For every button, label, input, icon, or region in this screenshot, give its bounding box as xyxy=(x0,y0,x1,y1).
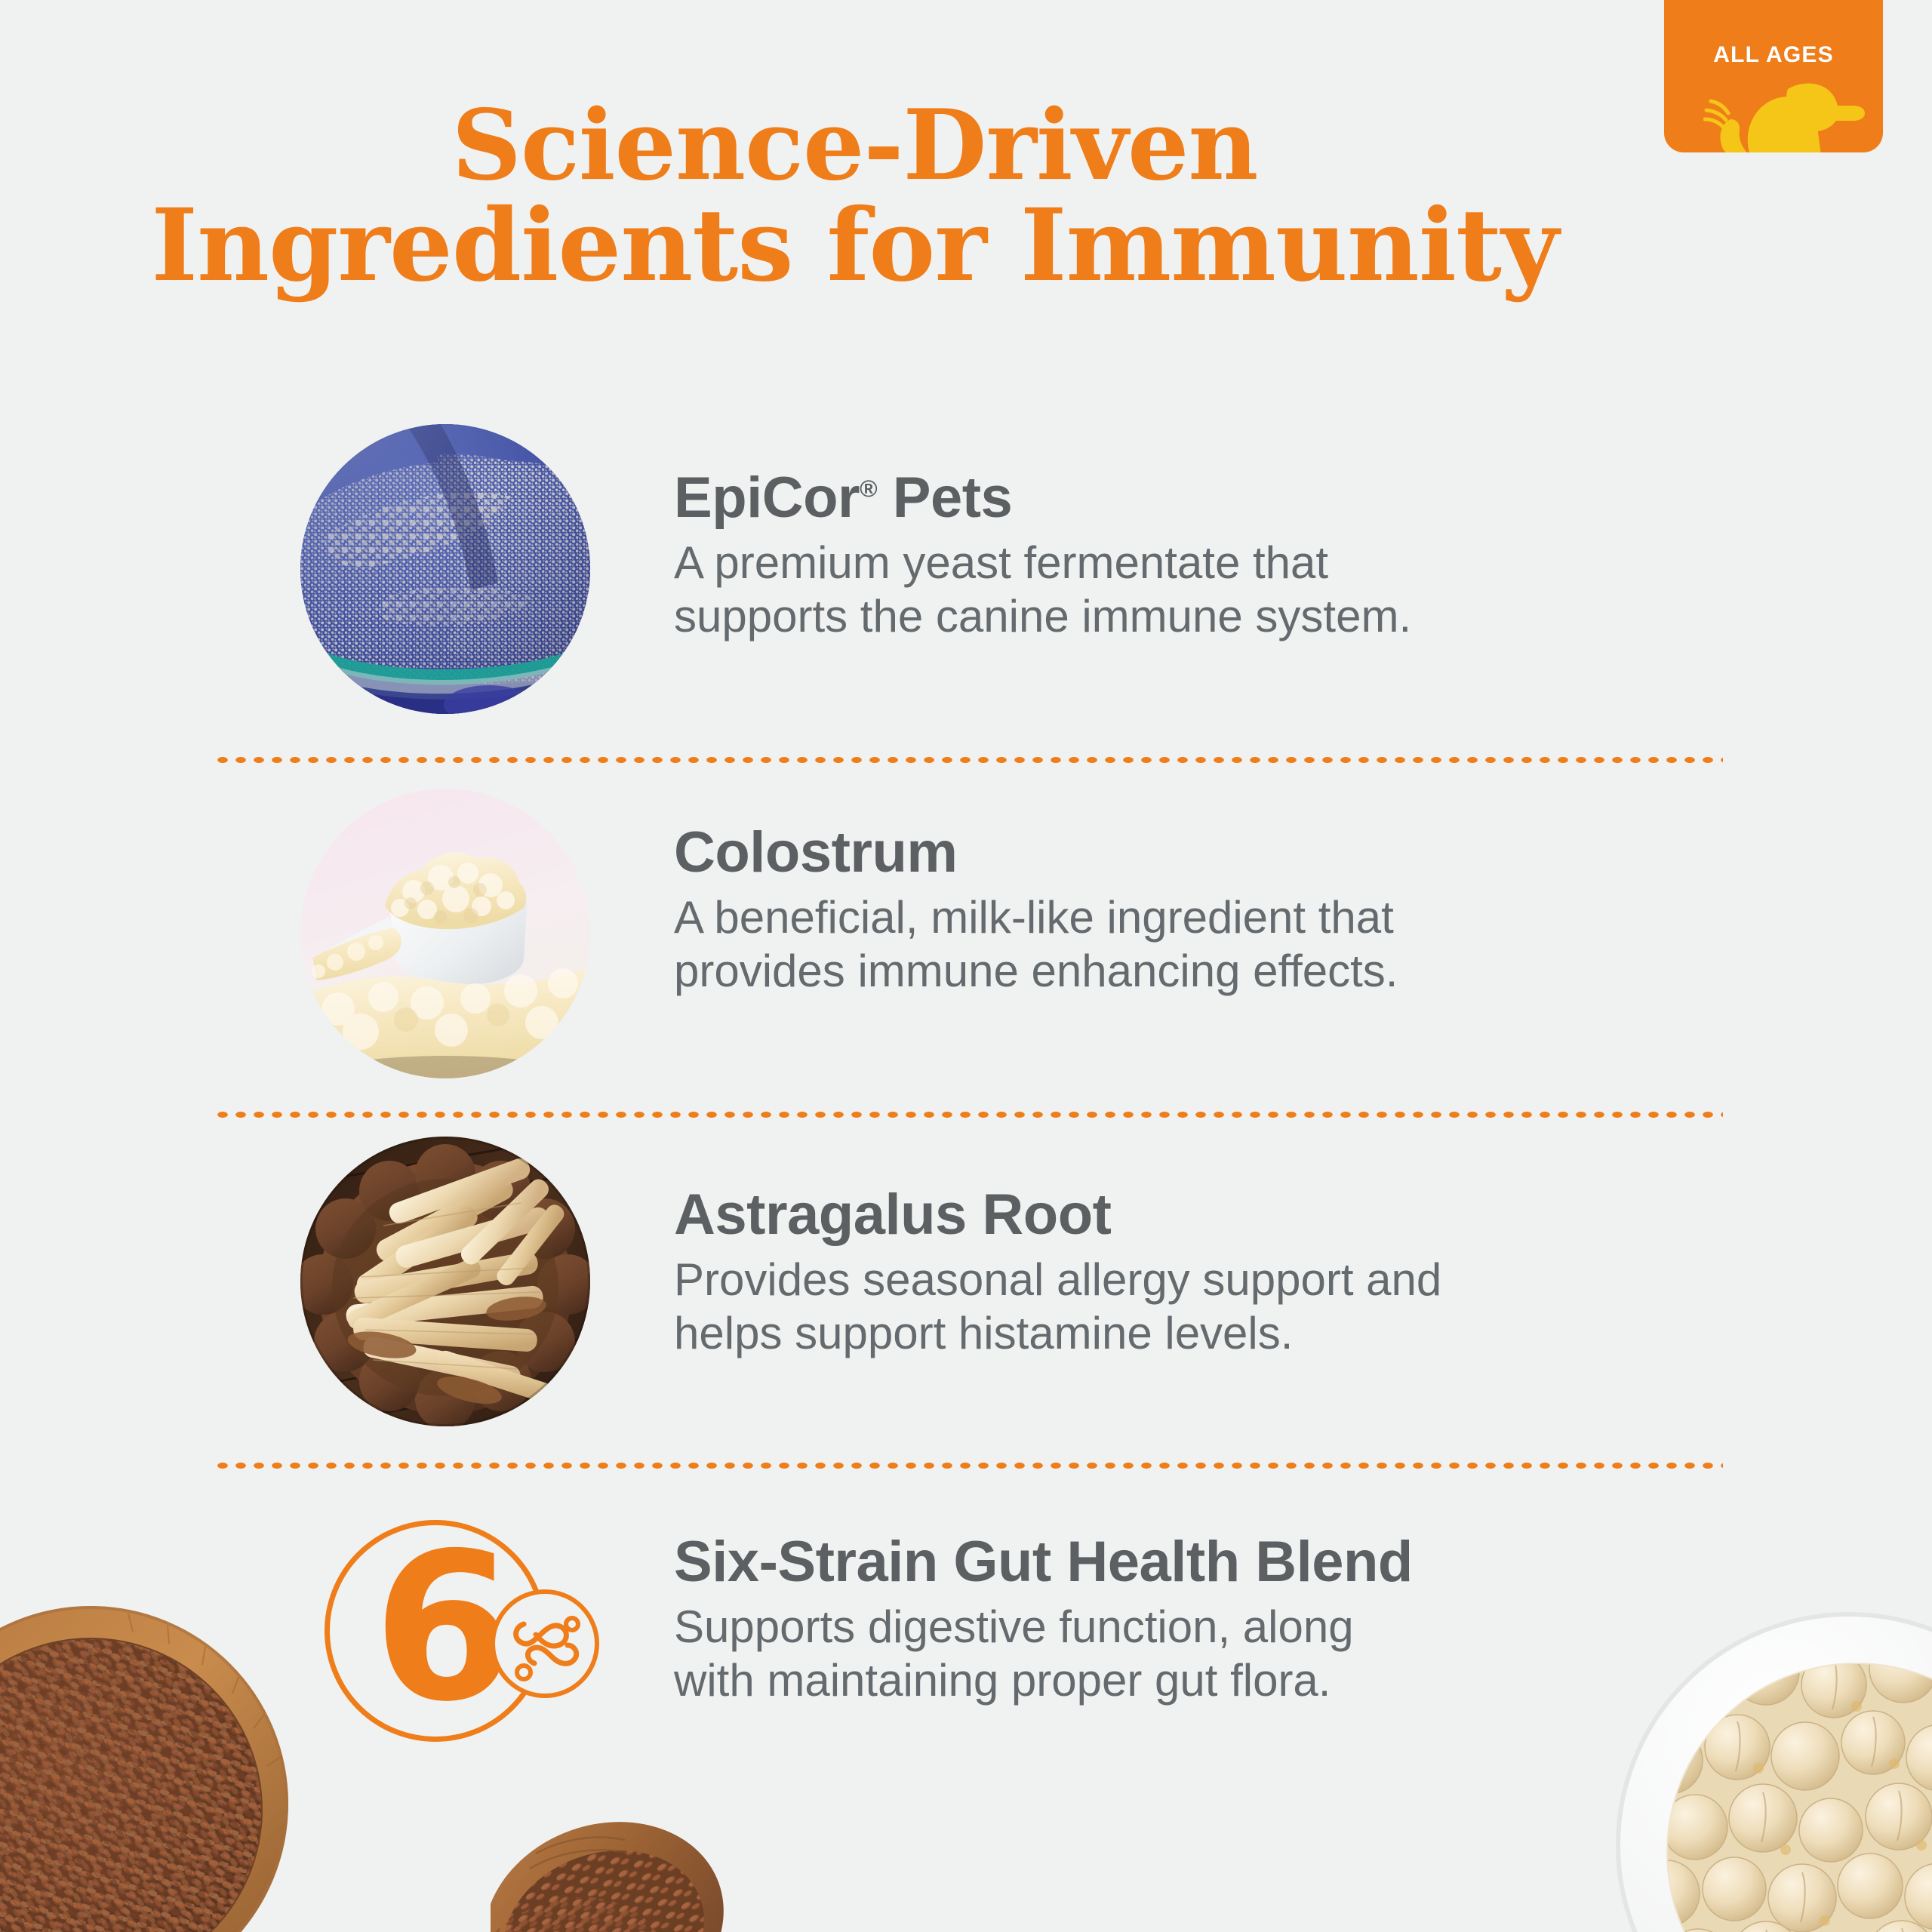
ingredient-text-six-strain: Six-Strain Gut Health Blend Supports dig… xyxy=(674,1532,1670,1708)
divider-3 xyxy=(214,1460,1723,1471)
ingredient-image-petri-dish xyxy=(300,424,590,714)
probiotic-bacteria-icon xyxy=(489,1588,601,1700)
petri-dish-yeast-colonies-icon xyxy=(300,424,590,714)
desc-line-1: Provides seasonal allergy support and xyxy=(674,1254,1670,1307)
ingredient-title-epicor: EpiCor® Pets xyxy=(674,468,1670,528)
ingredient-desc-epicor: A premium yeast fermentate that supports… xyxy=(674,537,1670,644)
sitting-dog-silhouette-icon xyxy=(1703,66,1877,152)
desc-line-1: A beneficial, milk-like ingredient that xyxy=(674,891,1670,945)
desc-line-2: provides immune enhancing effects. xyxy=(674,945,1670,998)
title-line-2: Ingredients for Immunity xyxy=(0,195,1709,297)
ingredient-desc-astragalus: Provides seasonal allergy support and he… xyxy=(674,1254,1670,1361)
ingredient-title-astragalus: Astragalus Root xyxy=(674,1185,1670,1244)
page-title: Science-Driven Ingredients for Immunity xyxy=(0,97,1709,297)
desc-line-1: Supports digestive function, along xyxy=(674,1601,1670,1654)
ingredient-title-six-strain: Six-Strain Gut Health Blend xyxy=(674,1532,1670,1592)
ingredient-text-epicor: EpiCor® Pets A premium yeast fermentate … xyxy=(674,468,1670,644)
ingredient-image-colostrum xyxy=(300,789,590,1078)
ingredient-text-colostrum: Colostrum A beneficial, milk-like ingred… xyxy=(674,823,1670,998)
infographic-canvas: ALL AGES Science-D xyxy=(0,0,1932,1932)
ingredient-name-suffix: Pets xyxy=(877,466,1012,530)
wooden-spoon-flaxseeds-decor xyxy=(491,1804,808,1932)
ingredient-name: EpiCor xyxy=(674,466,860,530)
all-ages-badge-label: ALL AGES xyxy=(1664,42,1883,68)
ingredient-image-six-strain: 6 xyxy=(325,1514,619,1763)
desc-line-1: A premium yeast fermentate that xyxy=(674,537,1670,590)
desc-line-2: supports the canine immune system. xyxy=(674,590,1670,644)
dried-astragalus-root-slices-icon xyxy=(300,1137,590,1426)
ingredient-desc-six-strain: Supports digestive function, along with … xyxy=(674,1601,1670,1708)
divider-2 xyxy=(214,1109,1723,1120)
wooden-bowl-flaxseeds-decor xyxy=(0,1600,325,1932)
white-bowl-chickpeas-decor xyxy=(1607,1596,1932,1932)
desc-line-2: with maintaining proper gut flora. xyxy=(674,1654,1670,1708)
desc-line-2: helps support histamine levels. xyxy=(674,1307,1670,1361)
ingredient-desc-colostrum: A beneficial, milk-like ingredient that … xyxy=(674,891,1670,998)
divider-1 xyxy=(214,755,1723,765)
ingredient-title-colostrum: Colostrum xyxy=(674,823,1670,882)
title-line-1: Science-Driven xyxy=(0,97,1709,195)
registered-trademark-symbol: ® xyxy=(860,475,877,503)
ingredient-image-astragalus xyxy=(300,1137,590,1426)
ingredient-text-astragalus: Astragalus Root Provides seasonal allerg… xyxy=(674,1185,1670,1361)
colostrum-powder-scoop-icon xyxy=(300,789,590,1078)
